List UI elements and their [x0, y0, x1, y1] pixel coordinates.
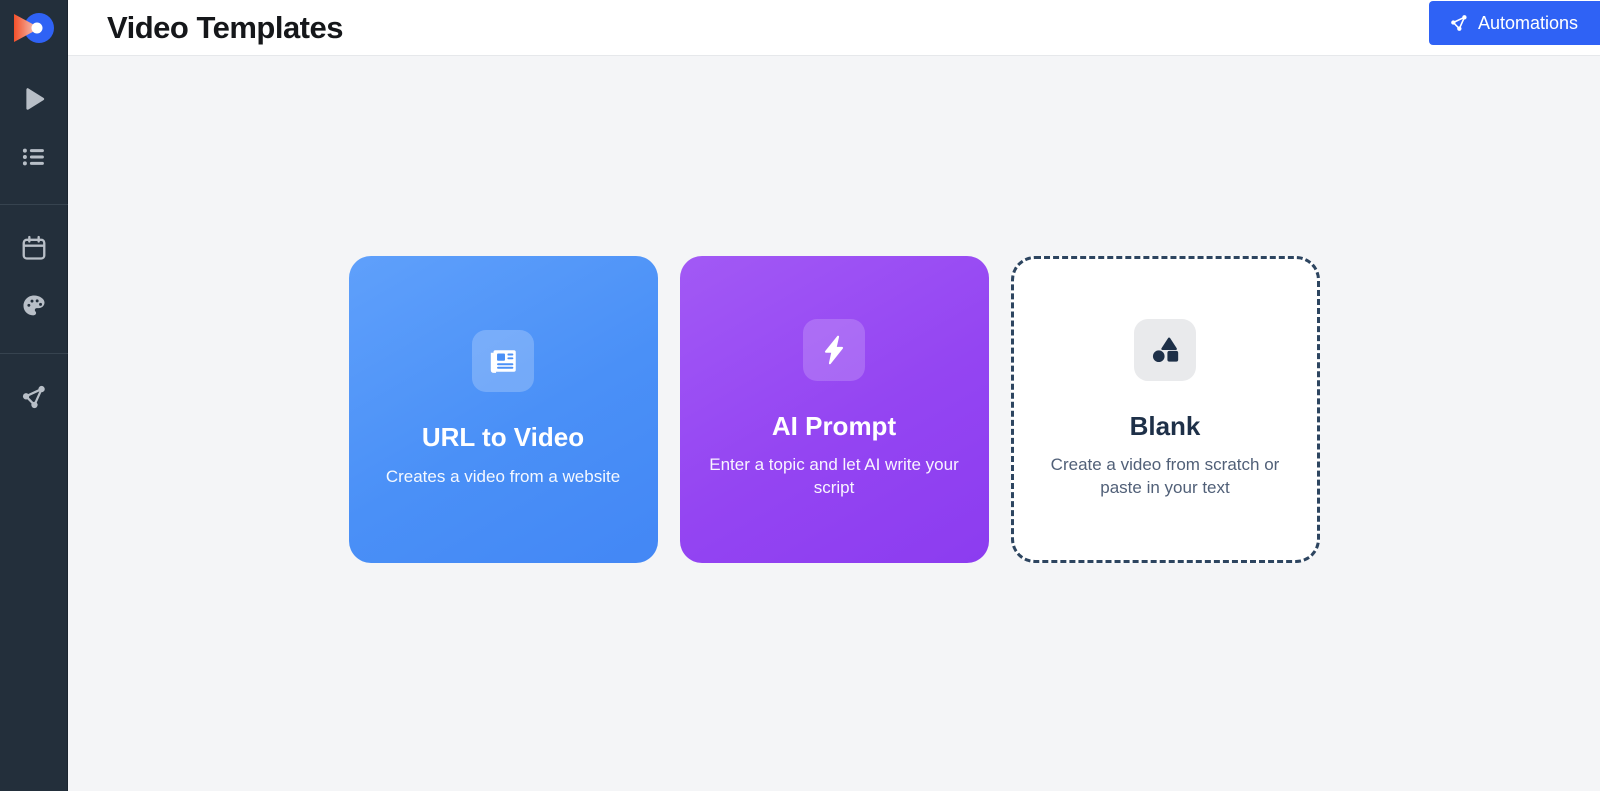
share-nodes-icon	[1449, 13, 1469, 33]
sidebar-group-automations	[0, 353, 68, 444]
template-card-description: Creates a video from a website	[386, 466, 620, 489]
play-icon	[19, 84, 49, 114]
template-card-description: Create a video from scratch or paste in …	[1040, 454, 1290, 500]
template-card-description: Enter a topic and let AI write your scri…	[709, 454, 959, 500]
top-bar: Video Templates Automations	[68, 0, 1600, 56]
template-card-list: URL to Video Creates a video from a webs…	[349, 256, 1320, 563]
sidebar-item-projects[interactable]	[0, 128, 68, 186]
template-card-ai-prompt[interactable]: AI Prompt Enter a topic and let AI write…	[680, 256, 989, 563]
sidebar-group-primary	[0, 56, 68, 204]
app-logo-mark	[12, 11, 56, 45]
share-nodes-icon	[20, 383, 48, 411]
list-icon	[20, 143, 48, 171]
automations-button[interactable]: Automations	[1429, 1, 1600, 45]
template-picker: URL to Video Creates a video from a webs…	[68, 56, 1600, 791]
app-root: Video Templates Automations	[0, 0, 1600, 791]
page-title: Video Templates	[107, 12, 343, 43]
sidebar-item-brand[interactable]	[0, 277, 68, 335]
sidebar-item-automations[interactable]	[0, 368, 68, 426]
palette-icon	[20, 292, 48, 320]
template-card-title: Blank	[1130, 412, 1201, 441]
main-area: Video Templates Automations	[68, 0, 1600, 791]
template-card-blank[interactable]: Blank Create a video from scratch or pas…	[1011, 256, 1320, 563]
template-card-title: URL to Video	[422, 423, 584, 452]
newspaper-icon	[472, 330, 534, 392]
sidebar-item-videos[interactable]	[0, 70, 68, 128]
sidebar-item-calendar[interactable]	[0, 219, 68, 277]
calendar-icon	[20, 234, 48, 262]
template-card-title: AI Prompt	[772, 412, 896, 441]
template-card-url-to-video[interactable]: URL to Video Creates a video from a webs…	[349, 256, 658, 563]
shapes-icon	[1134, 319, 1196, 381]
left-sidebar	[0, 0, 68, 791]
app-logo[interactable]	[0, 0, 68, 56]
automations-button-label: Automations	[1478, 13, 1578, 34]
sidebar-group-secondary	[0, 204, 68, 353]
lightning-bolt-icon	[803, 319, 865, 381]
